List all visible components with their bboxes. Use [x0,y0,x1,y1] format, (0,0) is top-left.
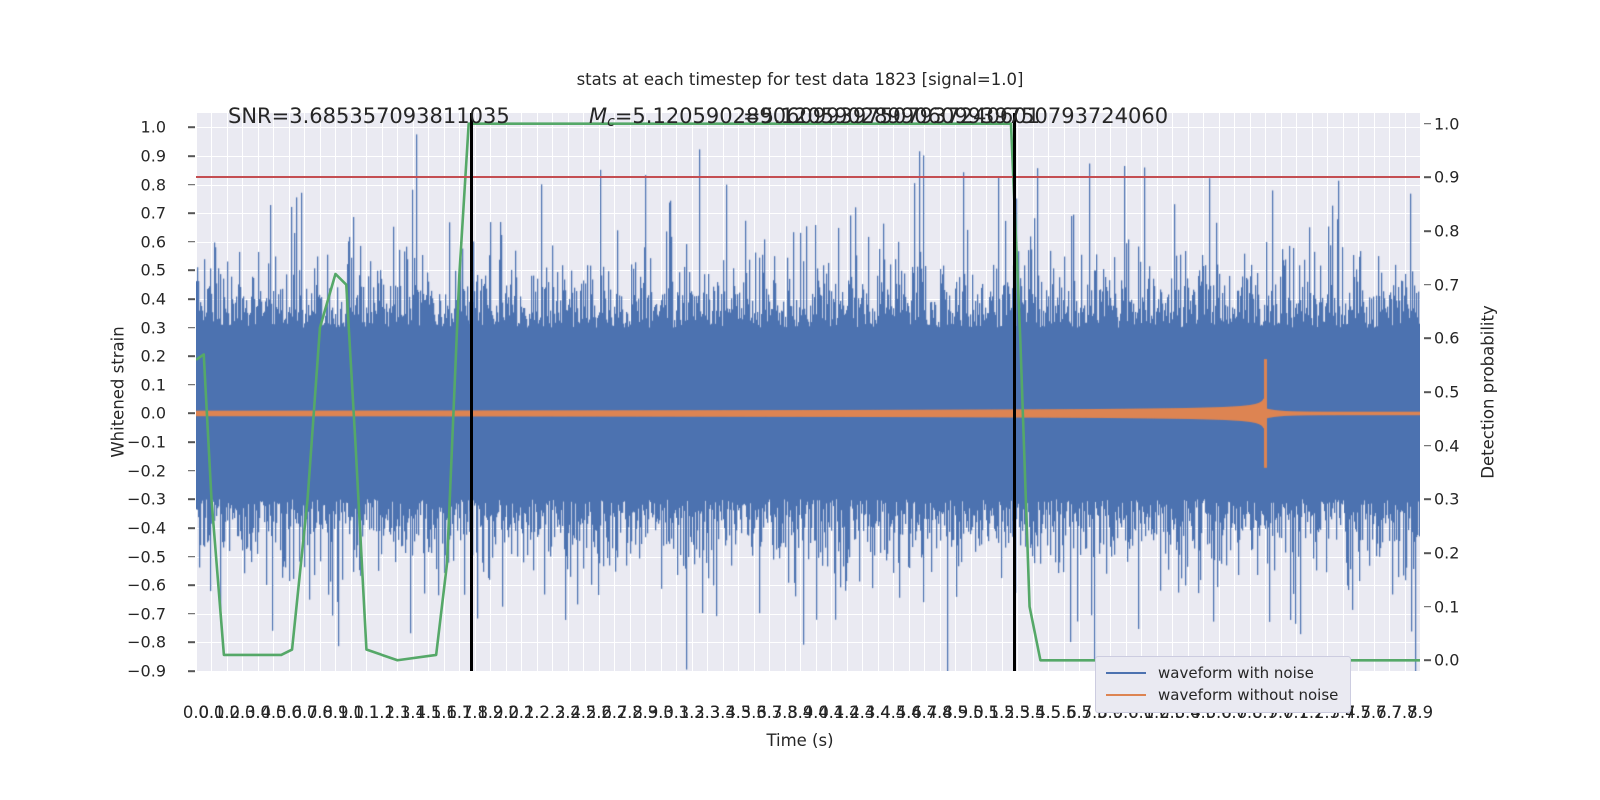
y-tick-label-left: 0.4 [141,290,166,309]
y-tick-label-left: −0.1 [127,433,166,452]
y-tick-label-left: −0.7 [127,604,166,623]
y-tick-label-left: −0.2 [127,461,166,480]
y-tick-mark-right [1424,123,1431,125]
y-tick-label-left: 0.2 [141,347,166,366]
y-tick-mark-right [1424,659,1431,661]
y-tick-mark-left [188,384,195,386]
y-tick-label-left: −0.6 [127,576,166,595]
y-tick-mark-left [188,470,195,472]
y-tick-label-left: 0.8 [141,175,166,194]
y-tick-label-left: −0.3 [127,490,166,509]
legend-swatch-with-noise [1106,672,1146,675]
y-tick-mark-left [188,184,195,186]
y-tick-label-left: −0.5 [127,547,166,566]
y-axis-label-left: Whitened strain [109,326,128,457]
y-tick-mark-left [188,127,195,129]
y-tick-label-right: 0.3 [1434,490,1459,509]
y-tick-mark-left [188,327,195,329]
y-tick-label-left: 0.0 [141,404,166,423]
legend-label-without-noise: waveform without noise [1158,686,1338,704]
y-tick-mark-right [1424,552,1431,554]
y-tick-label-left: −0.8 [127,633,166,652]
y-tick-label-left: −0.4 [127,518,166,537]
y-tick-label-left: 0.1 [141,375,166,394]
chart-title: stats at each timestep for test data 182… [0,70,1600,89]
y-tick-label-right: 1.0 [1434,114,1459,133]
x-tick-label: 7.9 [1407,703,1433,722]
snr-annotation: SNR=3.685357093811035 [228,104,510,128]
y-tick-mark-right [1424,177,1431,179]
y-axis-label-right: Detection probability [1479,305,1498,478]
y-tick-mark-left [188,155,195,157]
y-tick-label-left: 0.6 [141,232,166,251]
y-tick-label-left: 1.0 [141,118,166,137]
y-tick-mark-right [1424,391,1431,393]
y-tick-label-left: −0.9 [127,662,166,681]
legend-swatch-without-noise [1106,694,1146,697]
y-tick-mark-right [1424,606,1431,608]
y-tick-mark-right [1424,338,1431,340]
y-tick-label-left: 0.5 [141,261,166,280]
legend-item: waveform with noise [1106,662,1338,684]
y-tick-mark-left [188,527,195,529]
y-tick-mark-left [188,355,195,357]
legend-item: waveform without noise [1106,684,1338,706]
y-tick-mark-left [188,413,195,415]
y-tick-label-right: 0.9 [1434,168,1459,187]
y-tick-label-right: 0.4 [1434,436,1459,455]
figure-canvas: stats at each timestep for test data 182… [0,0,1600,800]
event-marker-lines [196,113,1420,671]
y-tick-label-right: 0.1 [1434,597,1459,616]
y-tick-mark-left [188,298,195,300]
y-tick-mark-left [188,642,195,644]
y-tick-label-right: 0.2 [1434,543,1459,562]
chirp-mass-value-overlap: =5.12059028990609939750793724060 [743,104,1168,128]
x-axis-label: Time (s) [0,731,1600,750]
y-tick-mark-left [188,499,195,501]
event-marker-line [470,113,473,671]
y-tick-label-right: 0.0 [1434,651,1459,670]
y-tick-mark-left [188,212,195,214]
y-tick-label-right: 0.8 [1434,222,1459,241]
y-tick-mark-left [188,613,195,615]
chirp-mass-annotation-overlap: =5.12059028990609939750793724060 [743,104,1168,128]
legend-label-with-noise: waveform with noise [1158,664,1314,682]
plot-area [196,113,1420,671]
y-tick-label-right: 0.7 [1434,275,1459,294]
y-tick-mark-right [1424,499,1431,501]
y-tick-label-left: 0.9 [141,146,166,165]
chirp-mass-symbol: M [589,104,607,128]
y-tick-mark-right [1424,230,1431,232]
y-tick-mark-right [1424,445,1431,447]
y-tick-mark-left [188,241,195,243]
y-tick-mark-left [188,670,195,672]
event-marker-line [1013,113,1016,671]
y-tick-mark-left [188,556,195,558]
y-tick-label-right: 0.5 [1434,383,1459,402]
y-tick-mark-left [188,441,195,443]
y-tick-mark-right [1424,284,1431,286]
legend: waveform with noise waveform without noi… [1095,656,1351,713]
y-tick-label-left: 0.7 [141,204,166,223]
y-tick-label-left: 0.3 [141,318,166,337]
y-tick-mark-left [188,584,195,586]
y-tick-mark-left [188,270,195,272]
chirp-mass-subscript: c [607,114,615,130]
y-tick-label-right: 0.6 [1434,329,1459,348]
